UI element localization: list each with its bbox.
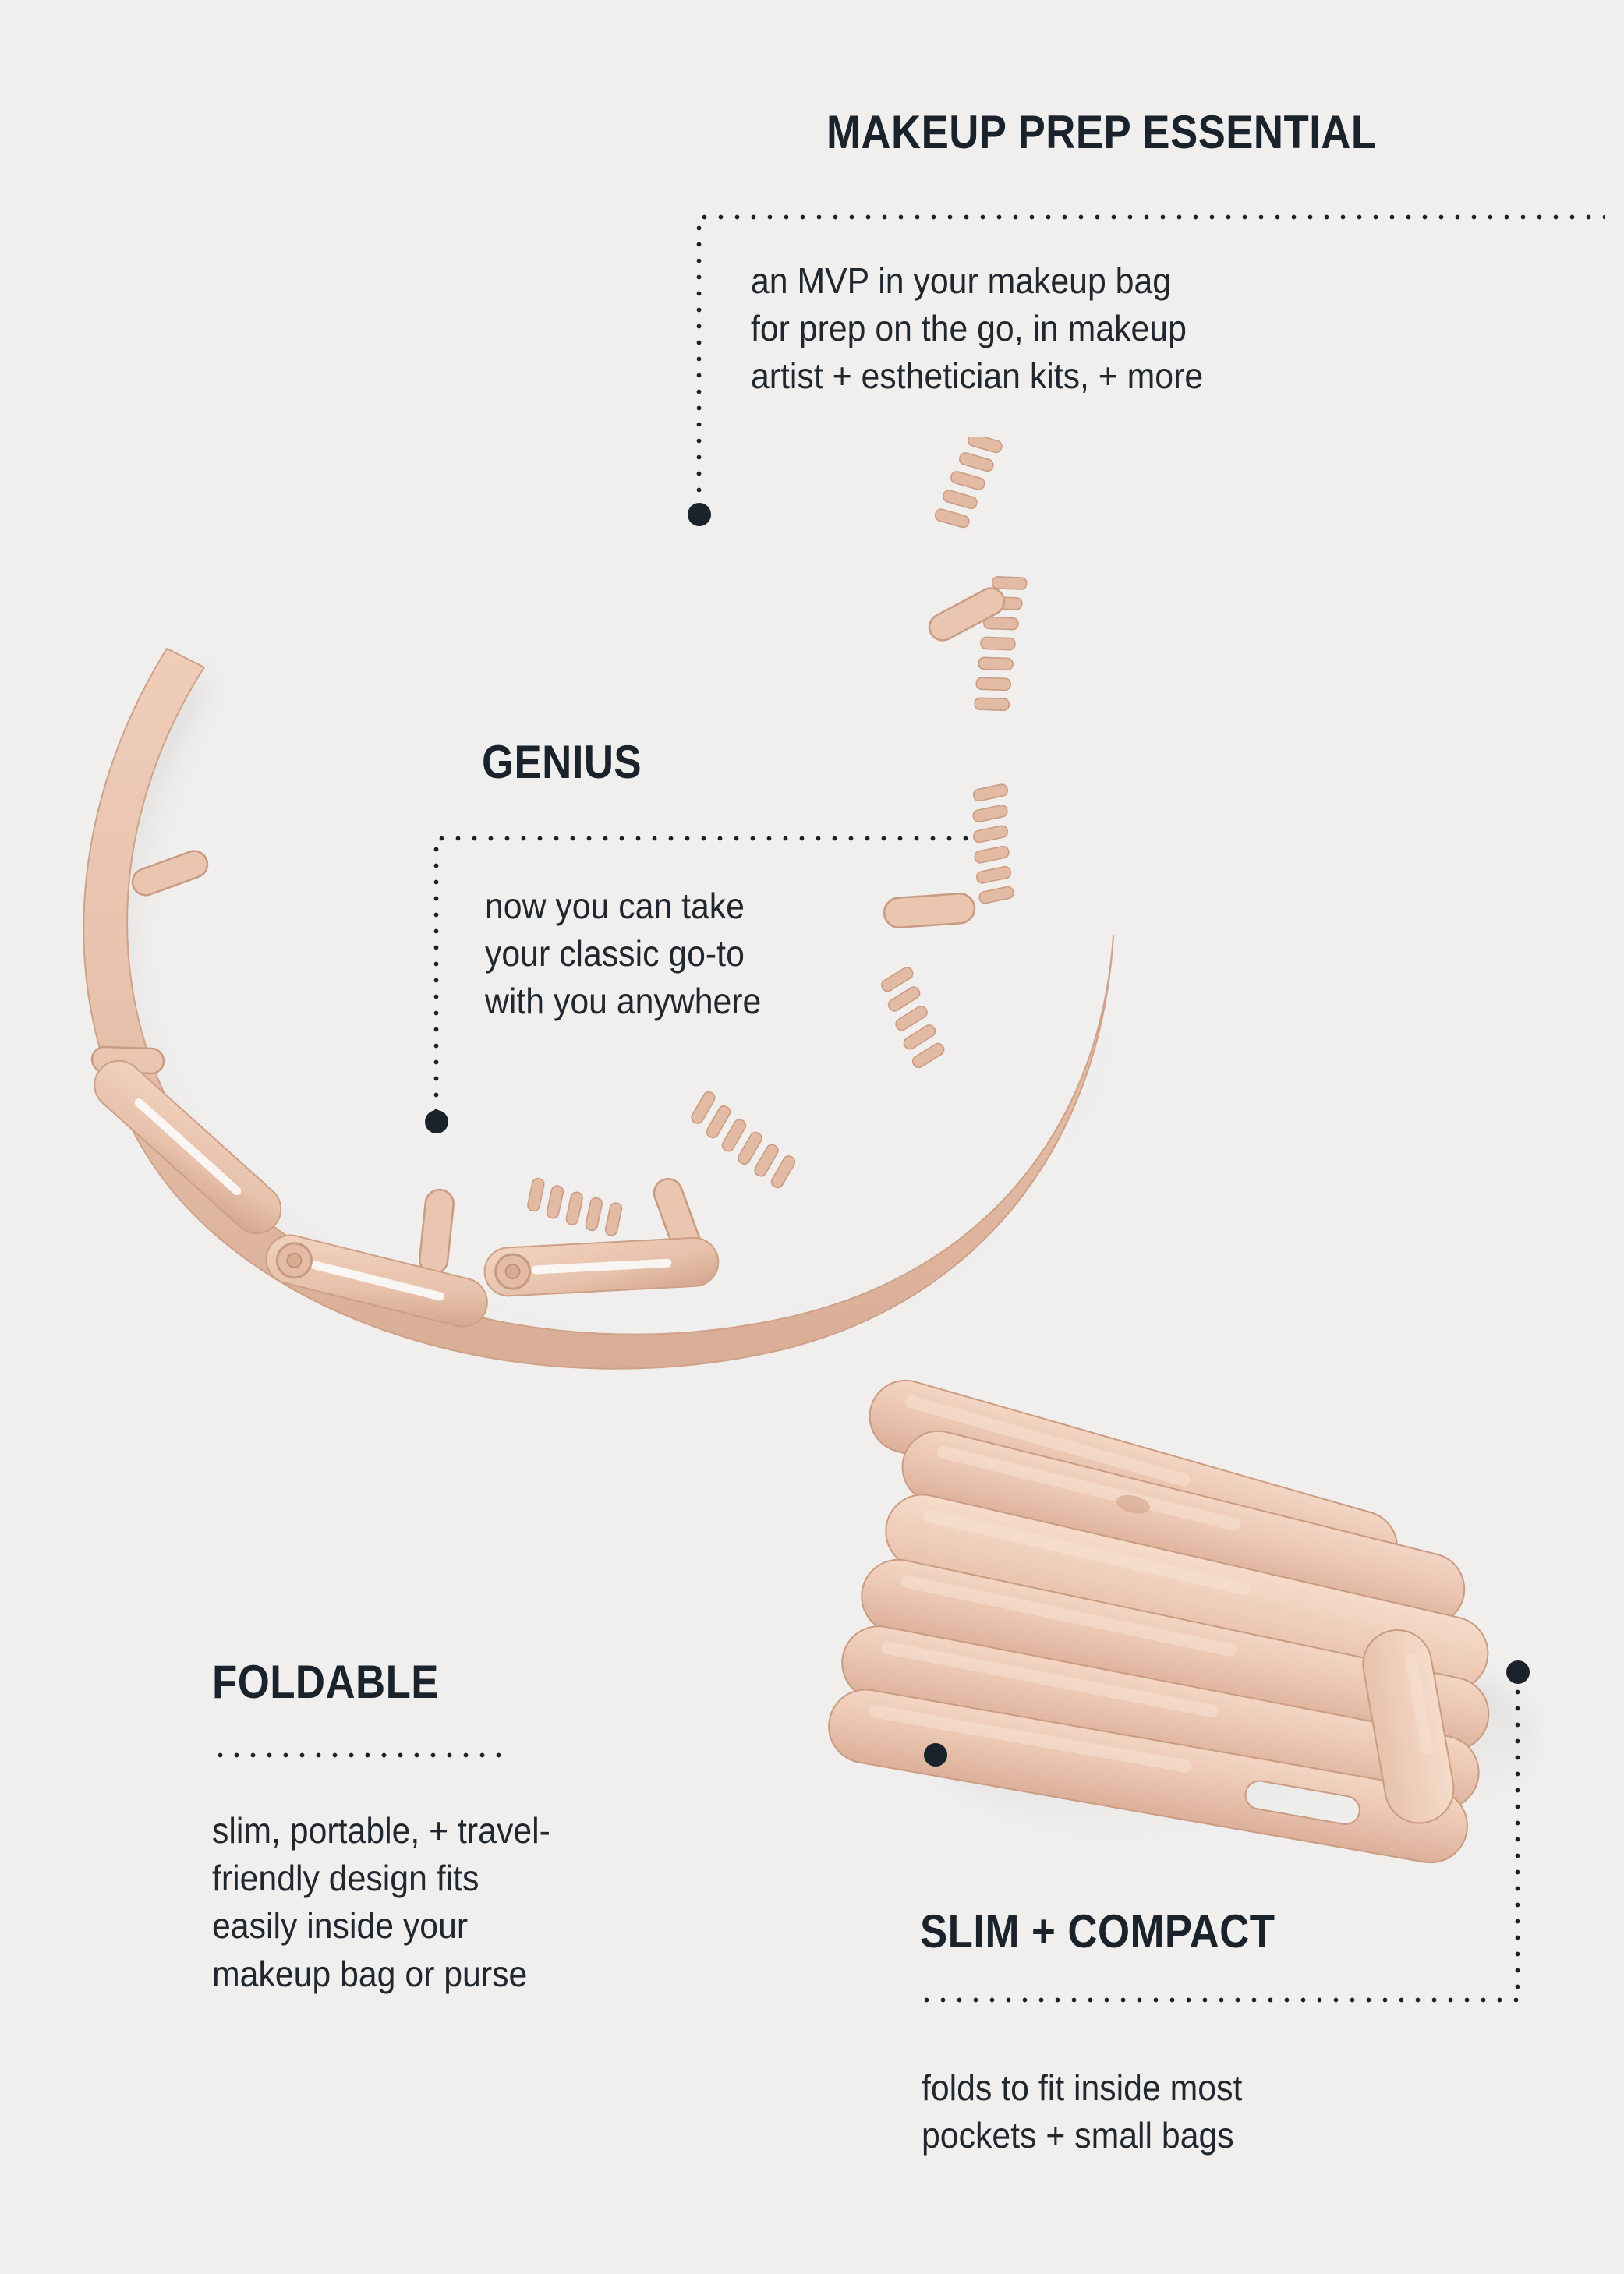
callout-line: artist + esthetician kits, + more	[751, 352, 1203, 400]
callout-heading-foldable: FOLDABLE	[212, 1659, 439, 1706]
callout-heading-slim-compact: SLIM + COMPACT	[920, 1908, 1275, 1955]
callout-line: easily inside your	[212, 1902, 550, 1950]
connector-vertical-slim-compact	[1515, 1684, 1520, 2000]
connector-vertical-genius	[433, 841, 439, 1118]
callout-heading-genius: GENIUS	[482, 739, 642, 786]
connector-endpoint-slim-compact	[1506, 1660, 1530, 1684]
callout-line: makeup bag or purse	[212, 1950, 550, 1998]
folded-headband-image	[795, 1278, 1622, 1863]
callout-body-slim-compact: folds to fit inside most pockets + small…	[922, 2064, 1242, 2159]
connector-horizontal-foldable	[212, 1752, 508, 1758]
callout-body-makeup-prep-essential: an MVP in your makeup bag for prep on th…	[751, 257, 1203, 401]
callout-line: an MVP in your makeup bag	[751, 257, 1203, 305]
callout-line: slim, portable, + travel-	[212, 1807, 550, 1855]
callout-line: now you can take	[485, 882, 761, 930]
connector-endpoint-makeup-prep-essential	[688, 503, 711, 526]
connector-vertical-makeup-prep-essential	[696, 220, 702, 512]
callout-line: for prep on the go, in makeup	[751, 305, 1203, 352]
folded-stack-segments	[823, 1372, 1495, 1863]
connector-horizontal-slim-compact	[918, 1997, 1520, 2003]
callout-body-foldable: slim, portable, + travel- friendly desig…	[212, 1807, 550, 1998]
callout-line: folds to fit inside most	[922, 2064, 1242, 2112]
callout-line: your classic go-to	[485, 930, 761, 978]
connector-endpoint-foldable	[924, 1743, 947, 1767]
connector-horizontal-genius	[433, 836, 979, 841]
callout-line: friendly design fits	[212, 1855, 550, 1902]
connector-endpoint-genius	[425, 1110, 448, 1133]
callout-line: pockets + small bags	[922, 2112, 1242, 2159]
infographic-canvas: MAKEUP PREP ESSENTIAL an MVP in your mak…	[0, 0, 1624, 2274]
callout-line: with you anywhere	[485, 978, 761, 1025]
callout-body-genius: now you can take your classic go-to with…	[485, 882, 761, 1026]
callout-heading-makeup-prep-essential: MAKEUP PREP ESSENTIAL	[826, 109, 1377, 156]
connector-horizontal-makeup-prep-essential	[696, 214, 1605, 220]
